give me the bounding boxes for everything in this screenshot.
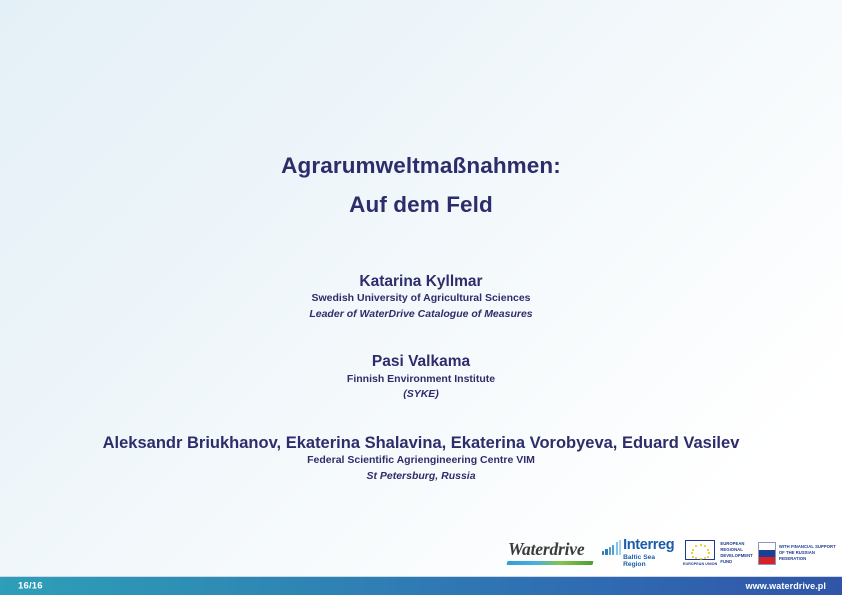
author-affiliation: Federal Scientific Agriengineering Centr… — [0, 453, 842, 469]
author-block-2: Pasi Valkama Finnish Environment Institu… — [0, 352, 842, 402]
author-role: St Petersburg, Russia — [0, 469, 842, 484]
russia-logo: WITH FINANCIAL SUPPORT OF THE RUSSIAN FE… — [758, 542, 836, 565]
waterdrive-logo: Waterdrive — [507, 541, 593, 565]
author-list: Katarina Kyllmar Swedish University of A… — [0, 272, 842, 484]
interreg-wordmark: Interreg — [623, 538, 674, 553]
eu-flag-wrap: EUROPEAN UNION — [683, 540, 717, 566]
presentation-slide: Agrarumweltmaßnahmen: Auf dem Feld Katar… — [0, 0, 842, 595]
title-line-2: Auf dem Feld — [0, 194, 842, 217]
waterdrive-wordmark: Waterdrive — [507, 541, 593, 559]
title-line-1: Agrarumweltmaßnahmen: — [0, 155, 842, 178]
russia-support-caption: WITH FINANCIAL SUPPORT OF THE RUSSIAN FE… — [779, 544, 836, 562]
eu-flag-icon — [685, 540, 715, 560]
russia-flag-icon — [758, 542, 776, 565]
slide-number: 16/16 — [18, 581, 43, 592]
author-role: Leader of WaterDrive Catalogue of Measur… — [0, 307, 842, 322]
author-name: Katarina Kyllmar — [0, 272, 842, 291]
author-block-1: Katarina Kyllmar Swedish University of A… — [0, 272, 842, 322]
footer-url[interactable]: www.waterdrive.pl — [746, 581, 826, 591]
interreg-logo: Interreg Baltic Sea Region — [602, 538, 674, 568]
waterdrive-gradient-rule-icon — [507, 561, 594, 565]
interreg-text: Interreg Baltic Sea Region — [623, 538, 674, 568]
eu-logo: EUROPEAN UNION EUROPEAN REGIONAL DEVELOP… — [683, 540, 749, 566]
footer-bar: 16/16 www.waterdrive.pl — [0, 576, 842, 595]
author-name: Aleksandr Briukhanov, Ekaterina Shalavin… — [0, 433, 842, 454]
author-role: (SYKE) — [0, 387, 842, 402]
slide-title: Agrarumweltmaßnahmen: Auf dem Feld — [0, 155, 842, 216]
eu-union-label: EUROPEAN UNION — [683, 562, 717, 566]
author-affiliation: Swedish University of Agricultural Scien… — [0, 291, 842, 307]
logo-strip: Waterdrive Interreg Baltic Sea Region — [507, 533, 836, 573]
interreg-bars-icon — [602, 538, 621, 555]
eu-fund-caption: EUROPEAN REGIONAL DEVELOPMENT FUND — [720, 541, 752, 565]
author-name: Pasi Valkama — [0, 352, 842, 371]
author-block-3: Aleksandr Briukhanov, Ekaterina Shalavin… — [0, 433, 842, 485]
author-affiliation: Finnish Environment Institute — [0, 372, 842, 388]
interreg-subtitle: Baltic Sea Region — [623, 555, 674, 568]
